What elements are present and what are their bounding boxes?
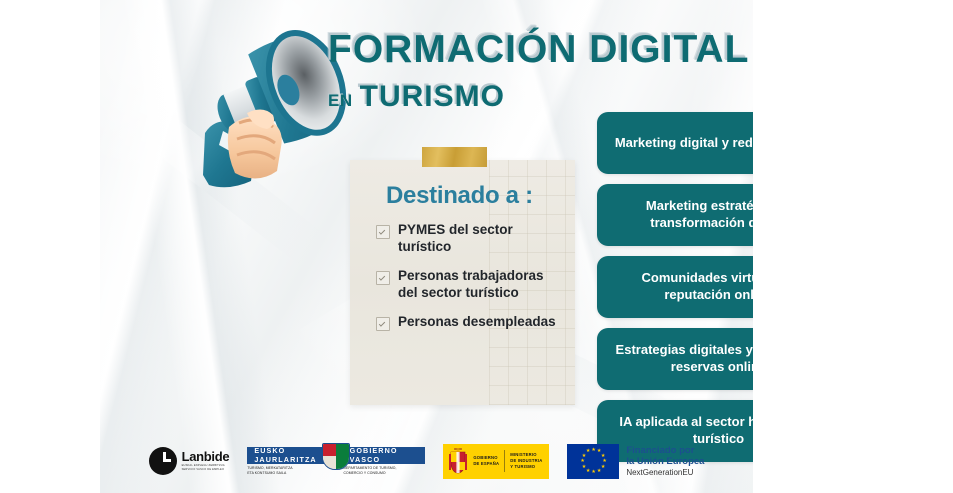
- list-item: Personas desempleadas: [376, 314, 566, 331]
- logo-union-europea: ★★★★★★★★★★★★ Financiado por la Unión Eur…: [567, 444, 704, 479]
- logo-bar: Lanbide EUSKAL ENPLEGU ZERBITZUA SERVICI…: [100, 437, 753, 485]
- topic-pill-estrategias-digitales[interactable]: Estrategias digitales y gestión de reser…: [597, 328, 753, 390]
- poster-canvas: FORMACIÓN DIGITAL EN TURISMO Destinado a…: [100, 0, 753, 493]
- ministerio-l2: DE INDUSTRIA: [510, 458, 542, 463]
- gv-caption-right: DEPARTAMENTO DE TURISMO, COMERCIO Y CONS…: [343, 466, 425, 475]
- eu-line-2: la Unión Europea: [626, 456, 704, 467]
- gobierno-espana-l1: GOBIERNO: [473, 455, 497, 460]
- spain-coat-of-arms-icon: [448, 448, 468, 474]
- ministerio-l3: Y TURISMO: [510, 464, 535, 469]
- gv-caption-left-l2: ETA KONTSUMO SAILA: [247, 471, 329, 476]
- audience-heading: Destinado a :: [386, 182, 533, 210]
- eu-line-1: Financiado por: [626, 445, 704, 456]
- subtitle-prefix: EN: [328, 91, 353, 114]
- logo-gobierno-vasco: EUSKO JAURLARITZA GOBIERNO VASCO TURISMO…: [247, 447, 425, 475]
- topic-list: Marketing digital y redes sociales Marke…: [597, 112, 753, 472]
- topic-pill-marketing-estrategico[interactable]: Marketing estratégico y transformación d…: [597, 184, 753, 246]
- subtitle-row: EN TURISMO: [328, 80, 748, 114]
- checkbox-checked-icon: [376, 225, 390, 239]
- ministerio-label: MINISTERIO DE INDUSTRIA Y TURISMO: [510, 452, 542, 471]
- list-item-label: PYMES del sector turístico: [398, 222, 566, 256]
- lanbide-text: Lanbide EUSKAL ENPLEGU ZERBITZUA SERVICI…: [182, 450, 230, 471]
- topic-pill-comunidades-virtuales[interactable]: Comunidades virtuales y reputación onlin…: [597, 256, 753, 318]
- eu-funding-text: Financiado por la Unión Europea NextGene…: [626, 445, 704, 478]
- list-item: PYMES del sector turístico: [376, 222, 566, 256]
- audience-card: Destinado a : PYMES del sector turístico…: [350, 160, 575, 405]
- gv-caption-left: TURISMO, MERKATARITZA ETA KONTSUMO SAILA: [247, 466, 329, 475]
- lanbide-subtitle-es: SERVICIO VASCO DE EMPLEO: [182, 469, 230, 472]
- divider: [504, 450, 505, 472]
- checkbox-checked-icon: [376, 317, 390, 331]
- ministerio-l1: MINISTERIO: [510, 452, 536, 457]
- lanbide-mark-icon: [149, 447, 177, 475]
- eu-line-3: NextGenerationEU: [626, 468, 704, 477]
- title-block: FORMACIÓN DIGITAL EN TURISMO: [328, 30, 748, 114]
- list-item-label: Personas trabajadoras del sector turísti…: [398, 268, 566, 302]
- gobierno-espana-label: GOBIERNO DE ESPAÑA: [473, 455, 499, 468]
- eu-flag-icon: ★★★★★★★★★★★★: [567, 444, 619, 479]
- basque-shield-icon: [322, 443, 350, 470]
- logo-gobierno-espana: GOBIERNO DE ESPAÑA MINISTERIO DE INDUSTR…: [443, 444, 549, 479]
- gobierno-vasco-bar: EUSKO JAURLARITZA GOBIERNO VASCO: [247, 447, 425, 464]
- subtitle-main: TURISMO: [360, 80, 505, 114]
- gobierno-espana-l2: DE ESPAÑA: [473, 461, 499, 466]
- audience-checklist: PYMES del sector turístico Personas trab…: [376, 222, 566, 343]
- gobierno-vasco-label: GOBIERNO VASCO: [343, 446, 426, 464]
- list-item-label: Personas desempleadas: [398, 314, 556, 331]
- logo-lanbide: Lanbide EUSKAL ENPLEGU ZERBITZUA SERVICI…: [149, 447, 230, 475]
- lanbide-wordmark: Lanbide: [182, 450, 230, 463]
- page-title: FORMACIÓN DIGITAL: [328, 30, 748, 69]
- gv-caption-right-l2: COMERCIO Y CONSUMO: [343, 471, 425, 476]
- list-item: Personas trabajadoras del sector turísti…: [376, 268, 566, 302]
- checkbox-checked-icon: [376, 271, 390, 285]
- topic-pill-marketing-digital[interactable]: Marketing digital y redes sociales: [597, 112, 753, 174]
- tape-strip-icon: [422, 147, 487, 167]
